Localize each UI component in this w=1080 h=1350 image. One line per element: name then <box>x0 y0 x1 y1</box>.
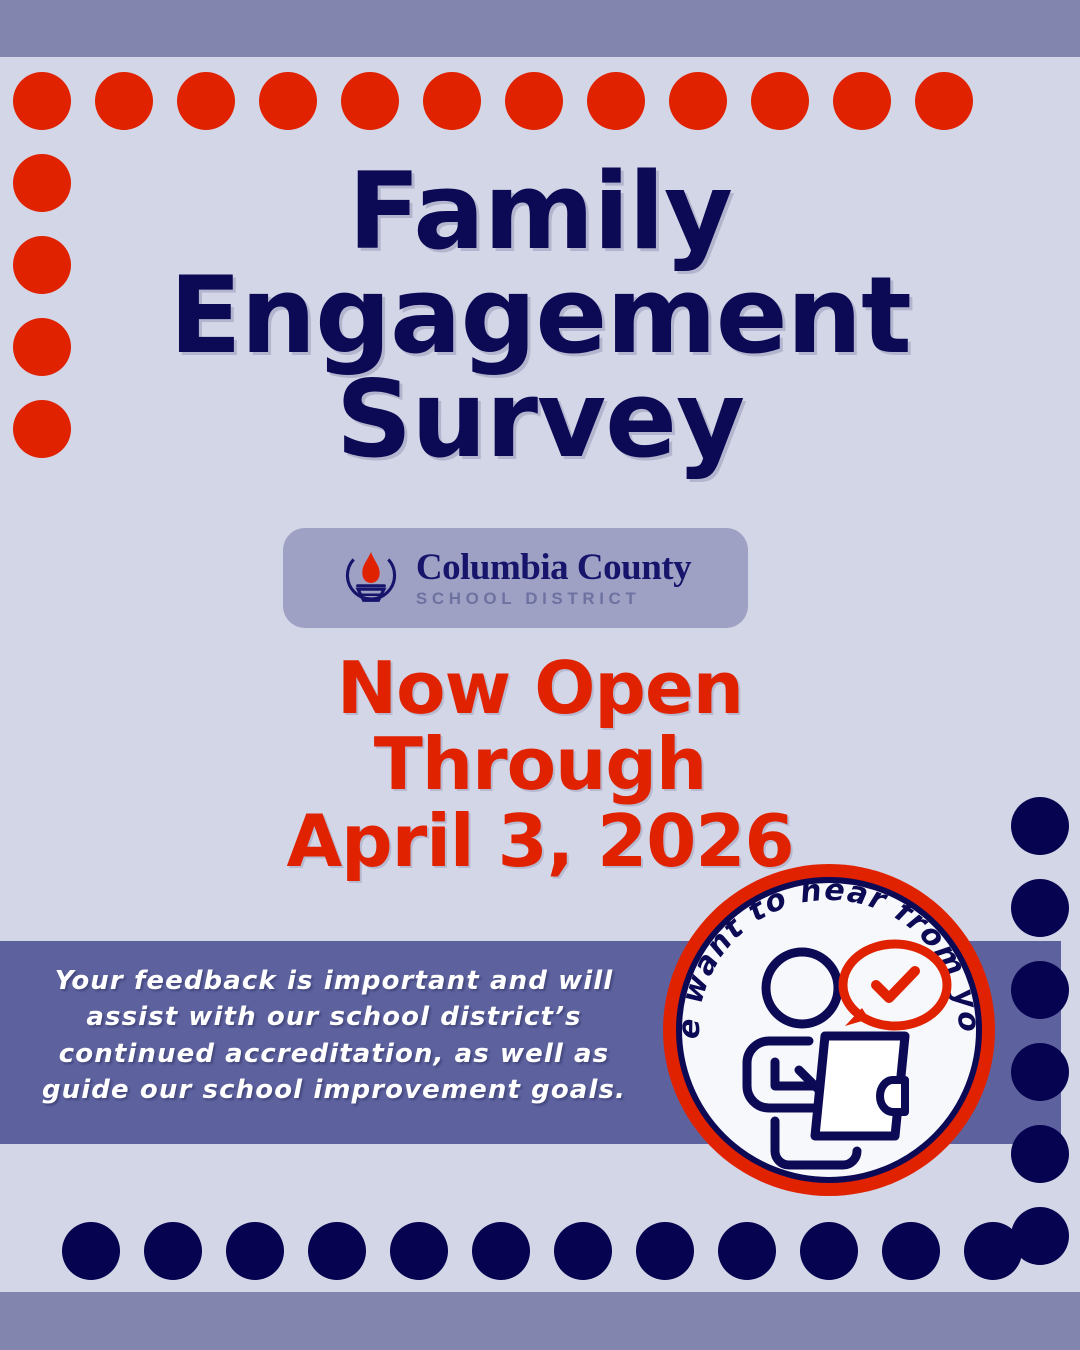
decorative-dot-red-left-3 <box>13 236 71 294</box>
decorative-dot-navy-bottom-11 <box>882 1222 940 1280</box>
decorative-dot-navy-bottom-12 <box>964 1222 1022 1280</box>
poster-canvas: Family Engagement Survey Columbia County… <box>0 0 1080 1350</box>
decorative-dot-red-top-11 <box>833 72 891 130</box>
decorative-dot-red-top-5 <box>341 72 399 130</box>
decorative-dot-red-top-3 <box>177 72 235 130</box>
decorative-dot-red-top-8 <box>587 72 645 130</box>
body-copy: Your feedback is important and will assi… <box>14 963 654 1109</box>
decorative-dot-navy-bottom-4 <box>308 1222 366 1280</box>
body-line-1: Your feedback is important and will <box>14 963 654 999</box>
title-line-1: Family <box>100 160 980 264</box>
decorative-dot-navy-bottom-2 <box>144 1222 202 1280</box>
decorative-dot-red-left-5 <box>13 400 71 458</box>
decorative-dot-navy-bottom-3 <box>226 1222 284 1280</box>
logo-wordmark: Columbia County SCHOOL DISTRICT <box>416 549 691 607</box>
body-line-2: assist with our school district’s <box>14 999 654 1035</box>
decorative-dot-red-top-6 <box>423 72 481 130</box>
decorative-dot-navy-bottom-9 <box>718 1222 776 1280</box>
decorative-dot-navy-right-4 <box>1011 1043 1069 1101</box>
title-line-3: Survey <box>100 368 980 472</box>
decorative-dot-red-left-2 <box>13 154 71 212</box>
decorative-dot-navy-bottom-7 <box>554 1222 612 1280</box>
decorative-dot-navy-right-3 <box>1011 961 1069 1019</box>
decorative-dot-navy-right-5 <box>1011 1125 1069 1183</box>
decorative-dot-red-top-2 <box>95 72 153 130</box>
torch-flame-icon <box>340 547 402 609</box>
decorative-dot-red-top-9 <box>669 72 727 130</box>
page-title: Family Engagement Survey <box>100 160 980 472</box>
district-logo: Columbia County SCHOOL DISTRICT <box>283 528 748 628</box>
decorative-dot-navy-right-2 <box>1011 879 1069 937</box>
logo-district-name: Columbia County <box>416 549 691 586</box>
logo-district-subtitle: SCHOOL DISTRICT <box>416 590 691 607</box>
decorative-dot-navy-bottom-5 <box>390 1222 448 1280</box>
body-line-4: guide our school improvement goals. <box>14 1072 654 1108</box>
decorative-dot-red-top-4 <box>259 72 317 130</box>
decorative-dot-red-top-7 <box>505 72 563 130</box>
decorative-dot-red-top-12 <box>915 72 973 130</box>
title-line-2: Engagement <box>100 264 980 368</box>
decorative-dot-navy-bottom-8 <box>636 1222 694 1280</box>
decorative-dot-navy-bottom-10 <box>800 1222 858 1280</box>
decorative-dot-red-top-10 <box>751 72 809 130</box>
body-line-3: continued accreditation, as well as <box>14 1036 654 1072</box>
bottom-purple-band <box>0 1292 1080 1350</box>
decorative-dot-navy-bottom-6 <box>472 1222 530 1280</box>
decorative-dot-navy-right-1 <box>1011 797 1069 855</box>
top-purple-band <box>0 0 1080 57</box>
hear-from-you-badge: We want to hear from you! <box>657 858 1001 1202</box>
survey-open-dates: Now Open Through April 3, 2026 <box>150 650 930 879</box>
date-line-1: Now Open <box>150 650 930 726</box>
date-line-2: Through <box>150 726 930 802</box>
decorative-dot-red-top-1 <box>13 72 71 130</box>
decorative-dot-navy-bottom-1 <box>62 1222 120 1280</box>
decorative-dot-red-left-4 <box>13 318 71 376</box>
